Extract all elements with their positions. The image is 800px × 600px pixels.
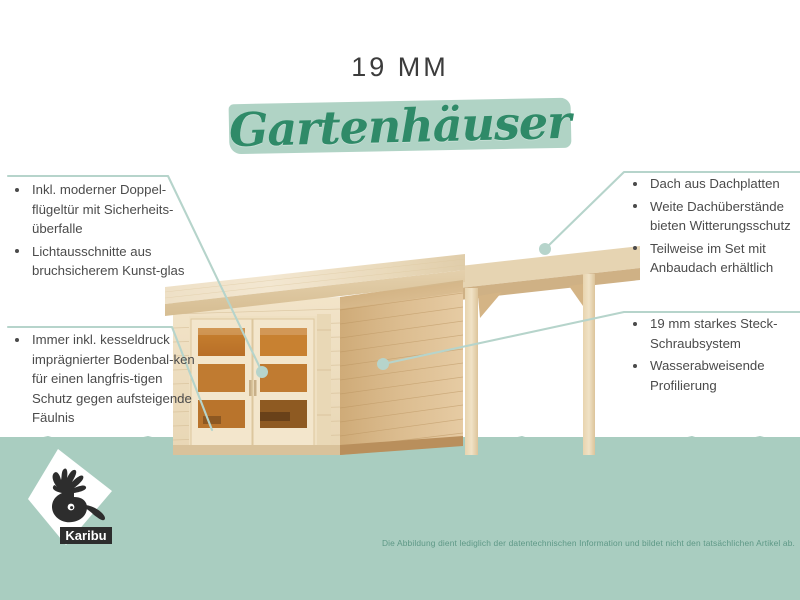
callout-item: Teilweise im Set mit Anbaudach erhältlic… [628,239,800,278]
callout-item: Dach aus Dachplatten [628,174,800,194]
callout-item: Wasserabweisende Profilierung [628,356,800,395]
callout-top-left: Inkl. moderner Doppel-flügeltür mit Sich… [10,180,200,284]
callout-item: Inkl. moderner Doppel-flügeltür mit Sich… [10,180,200,239]
karibu-logo: Karibu [24,447,122,552]
callout-item: Immer inkl. kesseldruck imprägnierter Bo… [10,330,200,428]
callout-top-right: Dach aus Dachplatten Weite Dachüberständ… [628,174,800,281]
callout-bottom-left: Immer inkl. kesseldruck imprägnierter Bo… [10,330,200,431]
product-infographic: 19 MM Gartenhäuser [0,0,800,600]
callout-item: Weite Dachüberstände bieten Witterungssc… [628,197,800,236]
image-disclaimer: Die Abbildung dient lediglich der datent… [335,538,795,548]
callout-bottom-right: 19 mm starkes Steck-Schraubsystem Wasser… [628,314,800,398]
page-title: Gartenhäuser [229,93,572,159]
logo-wordmark: Karibu [65,528,106,543]
callout-item: Lichtausschnitte aus bruchsicherem Kunst… [10,242,200,281]
garden-house-illustration [165,240,640,455]
page-kicker: 19 MM [0,52,800,83]
callout-item: 19 mm starkes Steck-Schraubsystem [628,314,800,353]
page-title-wrap: Gartenhäuser [0,97,800,159]
